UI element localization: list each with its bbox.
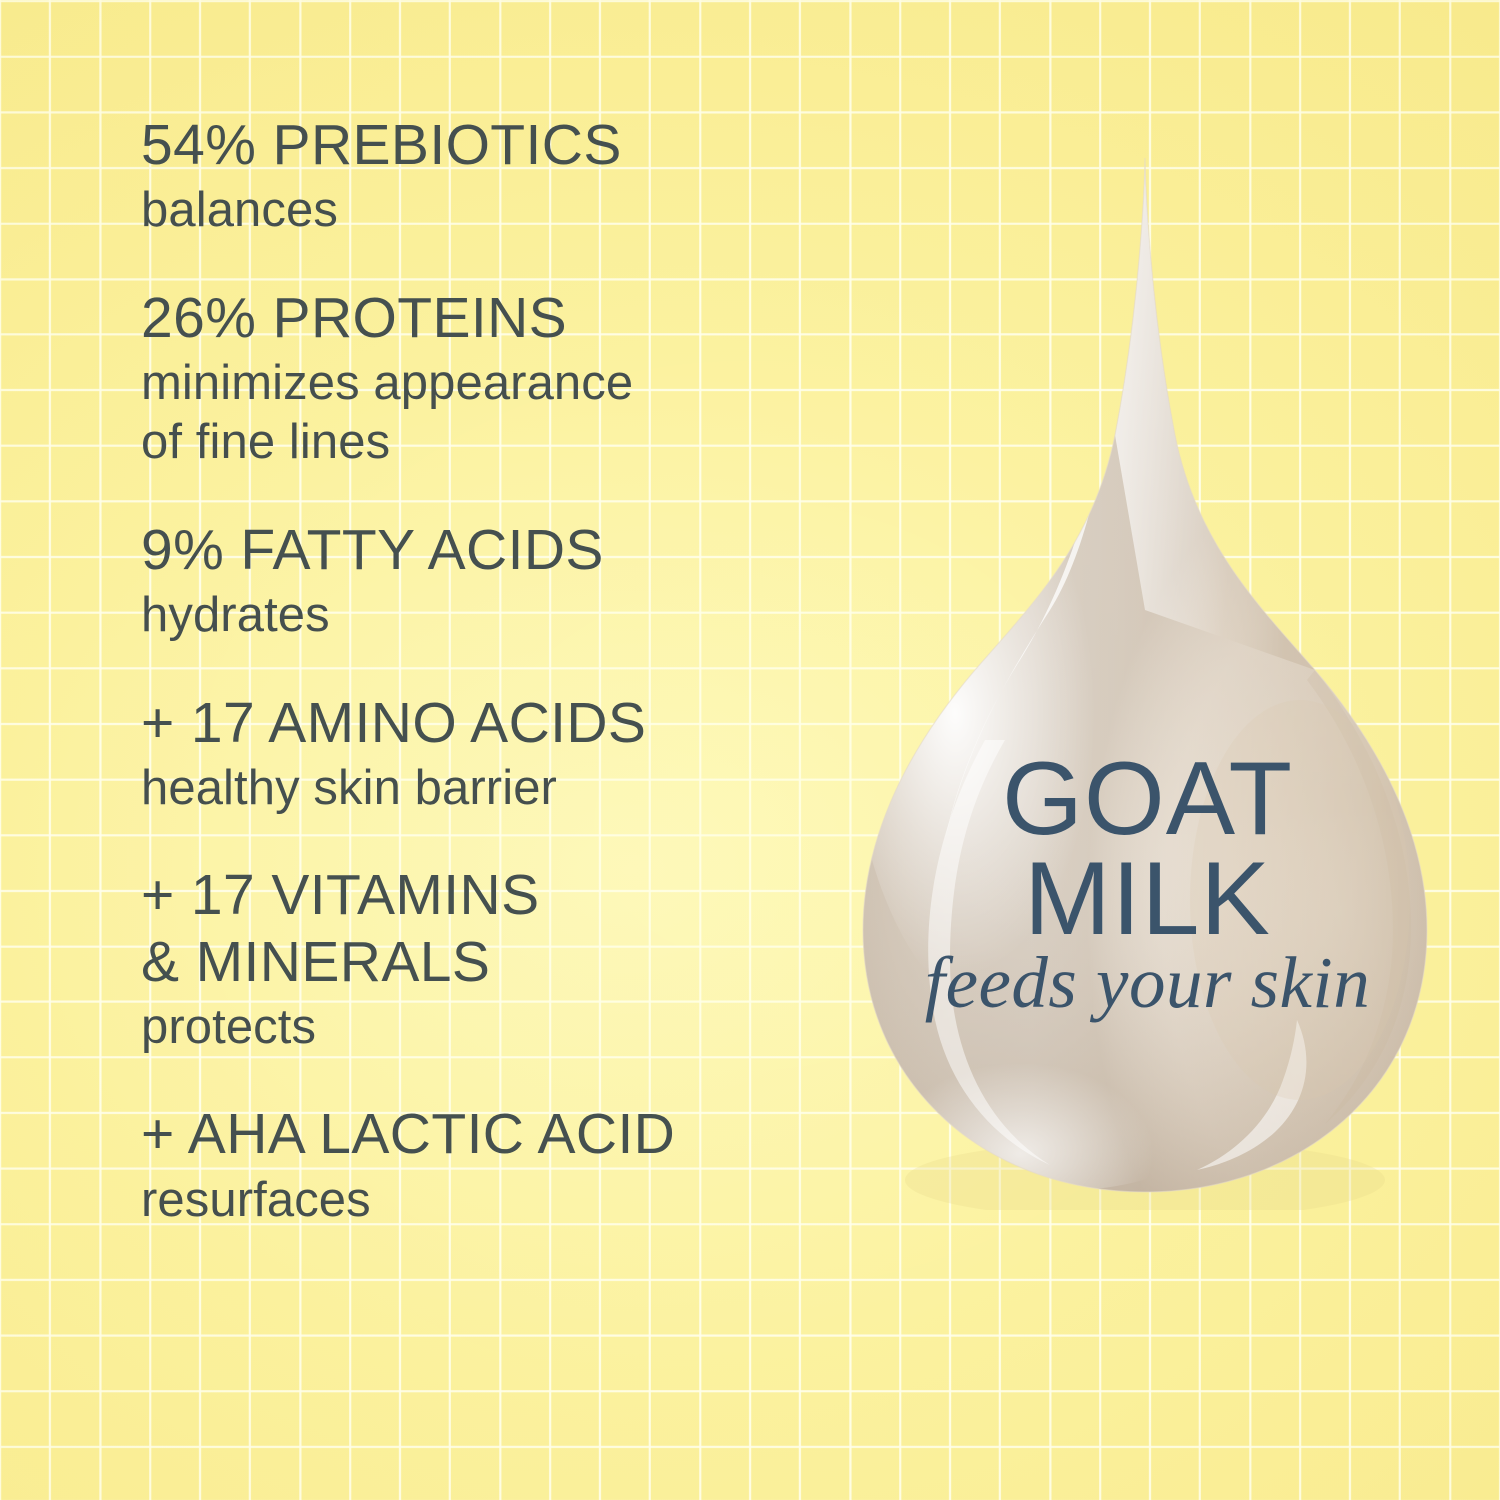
ingredient-benefit: minimizes appearance of fine lines	[141, 354, 841, 472]
ingredient-benefit: protects	[141, 998, 841, 1057]
ingredient-item-prebiotics: 54% PREBIOTICS balances	[141, 112, 841, 240]
ingredient-benefit: balances	[141, 181, 841, 240]
ingredient-headline: + 17 VITAMINS & MINERALS	[141, 862, 841, 994]
ingredient-benefit: hydrates	[141, 586, 841, 645]
ingredient-headline: 9% FATTY ACIDS	[141, 517, 841, 583]
ingredient-list: 54% PREBIOTICS balances 26% PROTEINS min…	[141, 112, 841, 1229]
ingredient-headline: 26% PROTEINS	[141, 285, 841, 351]
ingredient-benefit: healthy skin barrier	[141, 759, 841, 818]
ingredient-headline: 54% PREBIOTICS	[141, 112, 841, 178]
ingredient-headline: + AHA LACTIC ACID	[141, 1101, 841, 1167]
ingredient-item-amino-acids: + 17 AMINO ACIDS healthy skin barrier	[141, 690, 841, 818]
ingredient-item-aha-lactic-acid: + AHA LACTIC ACID resurfaces	[141, 1101, 841, 1229]
ingredient-item-vitamins-minerals: + 17 VITAMINS & MINERALS protects	[141, 862, 841, 1056]
product-ingredient-infographic: 54% PREBIOTICS balances 26% PROTEINS min…	[0, 0, 1500, 1500]
ingredient-benefit: resurfaces	[141, 1171, 841, 1230]
ingredient-item-proteins: 26% PROTEINS minimizes appearance of fin…	[141, 285, 841, 472]
milk-droplet-illustration	[845, 140, 1450, 1210]
ingredient-headline: + 17 AMINO ACIDS	[141, 690, 841, 756]
ingredient-item-fatty-acids: 9% FATTY ACIDS hydrates	[141, 517, 841, 645]
